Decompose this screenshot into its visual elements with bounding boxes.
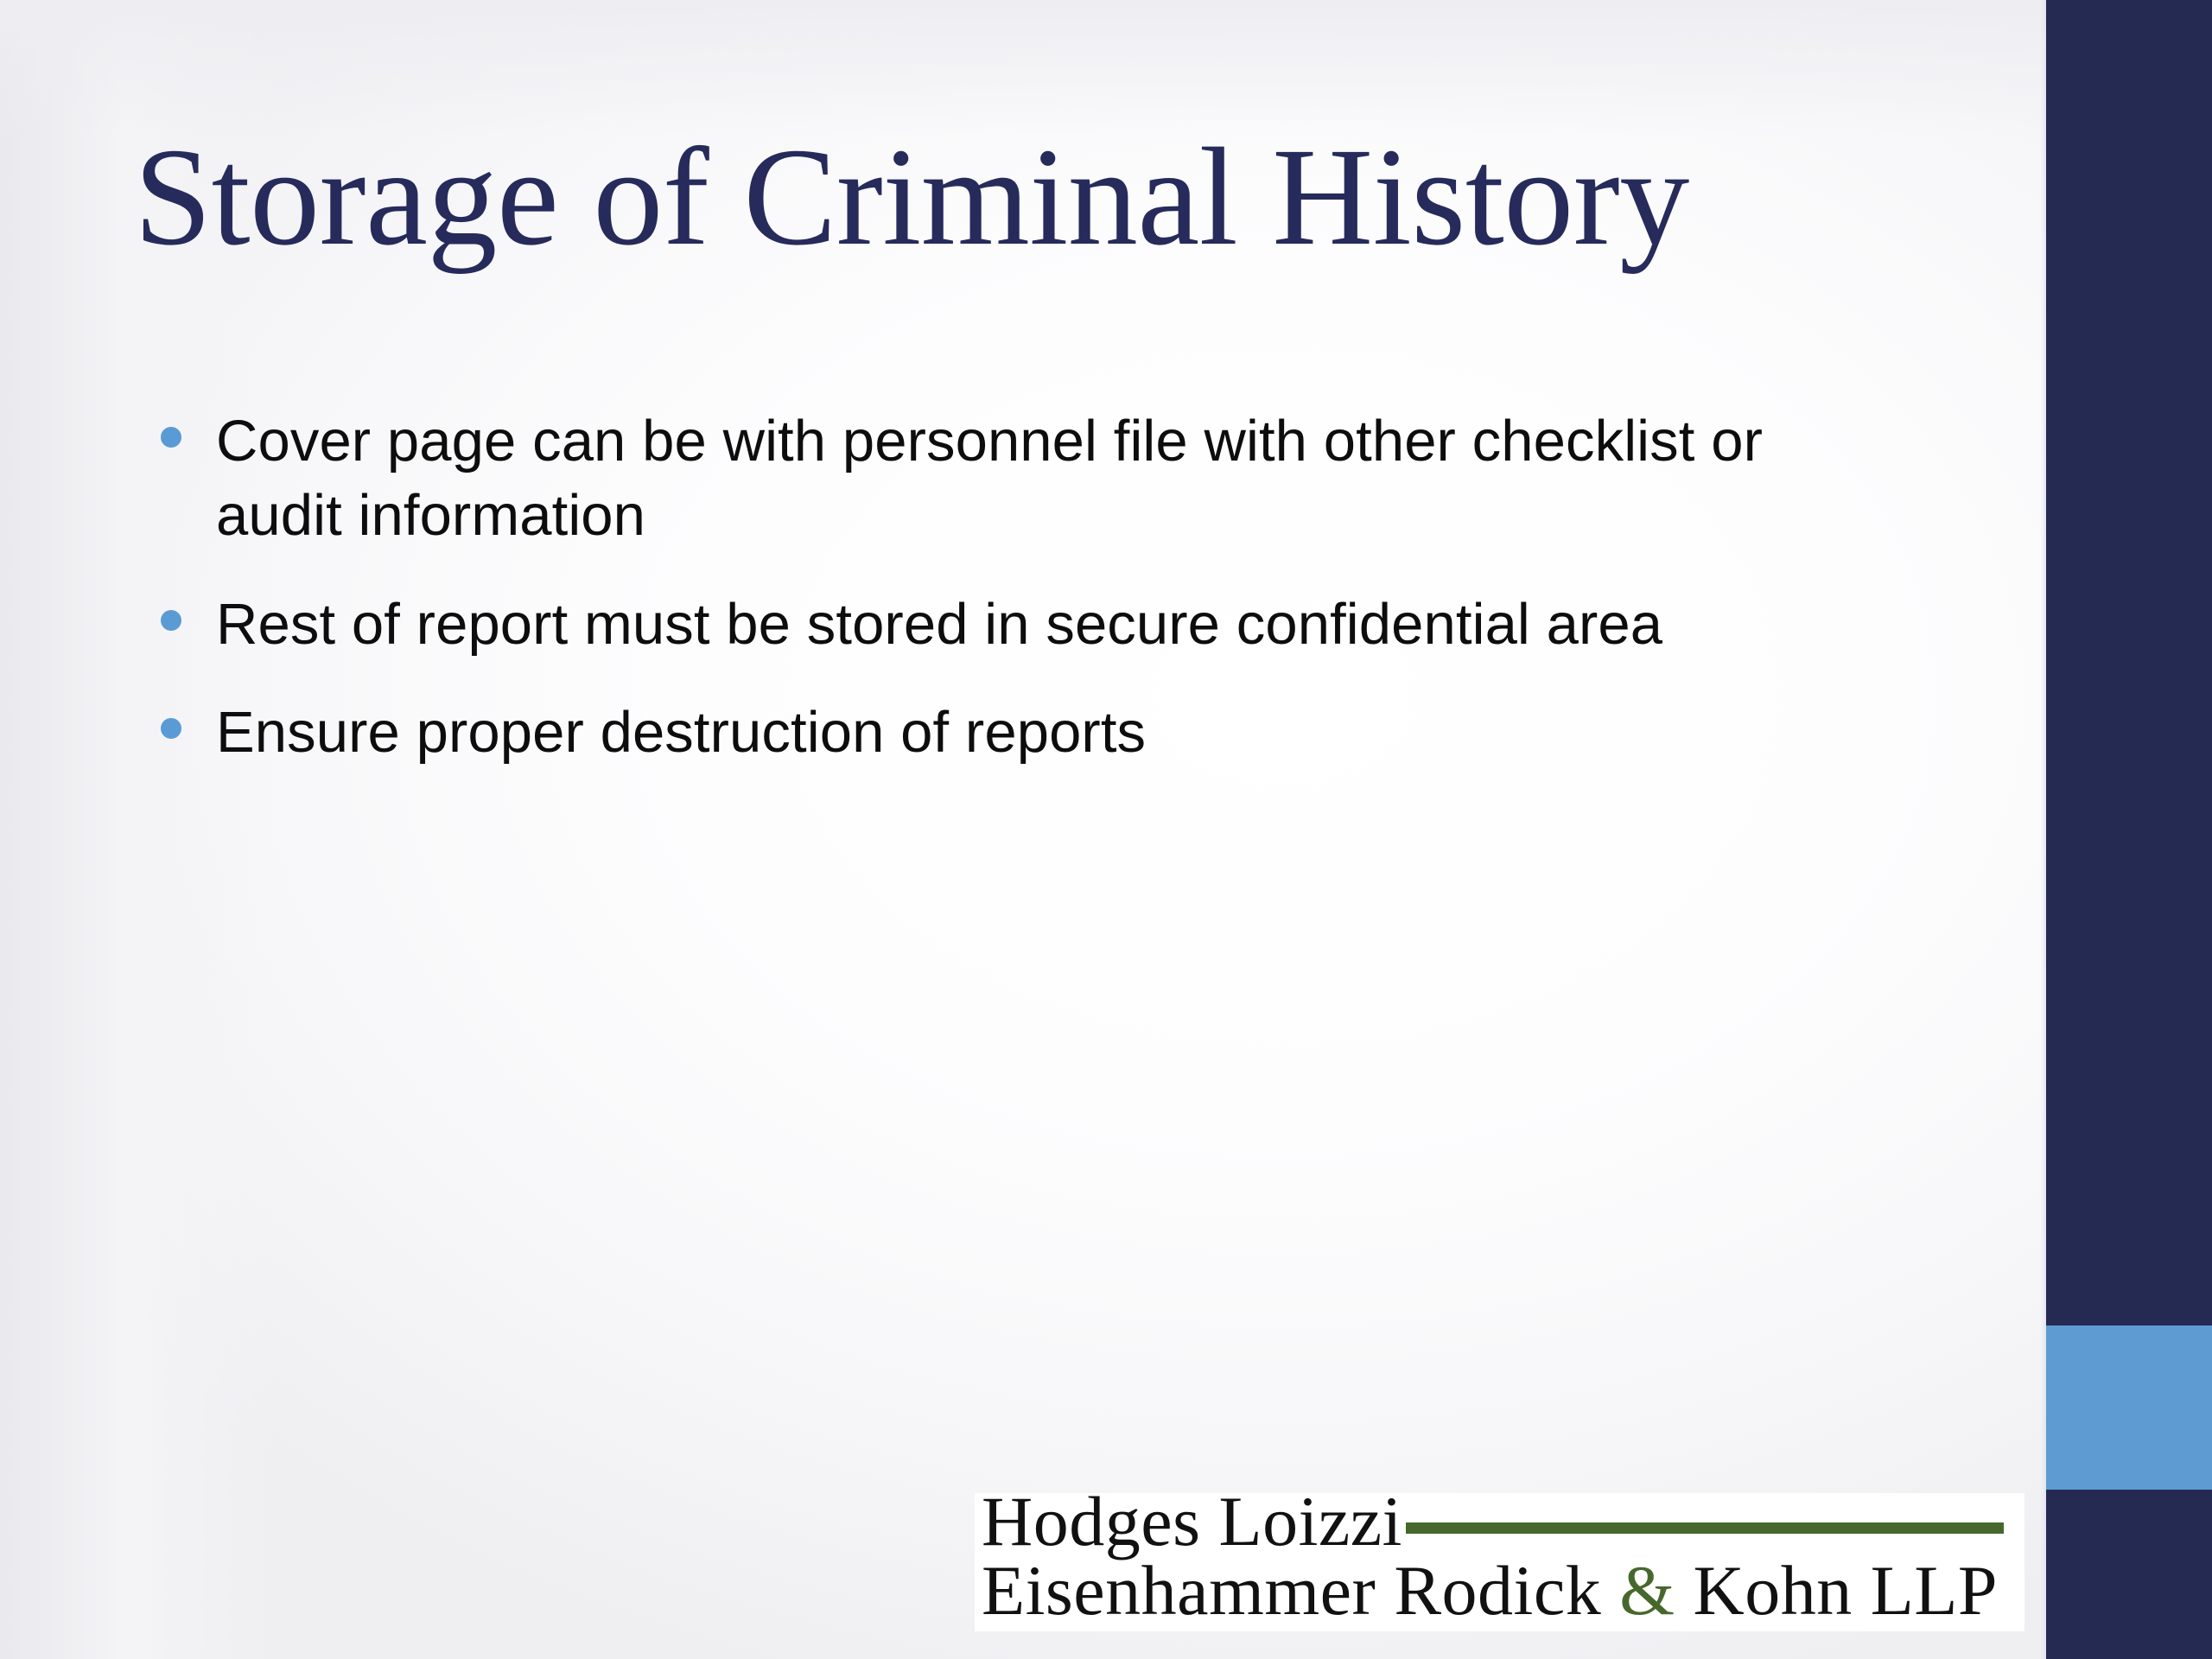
firm-logo-name-bottom-post: Kohn LLP (1675, 1551, 1999, 1630)
firm-logo-ampersand: & (1619, 1551, 1675, 1630)
bullet-dot-icon (161, 718, 181, 739)
background-top-shade (0, 0, 2212, 138)
bullet-text: Rest of report must be stored in secure … (216, 588, 1897, 662)
sidebar-segment-navy-top (2046, 0, 2212, 1325)
slide-bullet-list: Cover page can be with personnel file wi… (161, 404, 1897, 804)
list-item: Rest of report must be stored in secure … (161, 588, 1897, 662)
sidebar-segment-navy-bottom (2046, 1490, 2212, 1659)
bullet-dot-icon (161, 610, 181, 631)
slide-title: Storage of Criminal History (134, 128, 1905, 268)
bullet-text: Cover page can be with personnel file wi… (216, 404, 1897, 553)
firm-logo-rule (1406, 1522, 2004, 1534)
bullet-text: Ensure proper destruction of reports (216, 696, 1897, 770)
sidebar-segment-light-blue-accent (2046, 1325, 2212, 1490)
list-item: Cover page can be with personnel file wi… (161, 404, 1897, 553)
firm-logo: Hodges Loizzi Eisenhammer Rodick & Kohn … (975, 1493, 2024, 1631)
presentation-slide: Storage of Criminal History Cover page c… (0, 0, 2212, 1659)
list-item: Ensure proper destruction of reports (161, 696, 1897, 770)
firm-logo-name-bottom-pre: Eisenhammer Rodick (982, 1551, 1619, 1630)
decorative-sidebar (2046, 0, 2212, 1659)
firm-logo-line-two: Eisenhammer Rodick & Kohn LLP (982, 1555, 1998, 1626)
firm-logo-name-top: Hodges Loizzi (982, 1486, 1402, 1557)
firm-logo-line-one: Hodges Loizzi (982, 1486, 2031, 1557)
bullet-dot-icon (161, 427, 181, 448)
